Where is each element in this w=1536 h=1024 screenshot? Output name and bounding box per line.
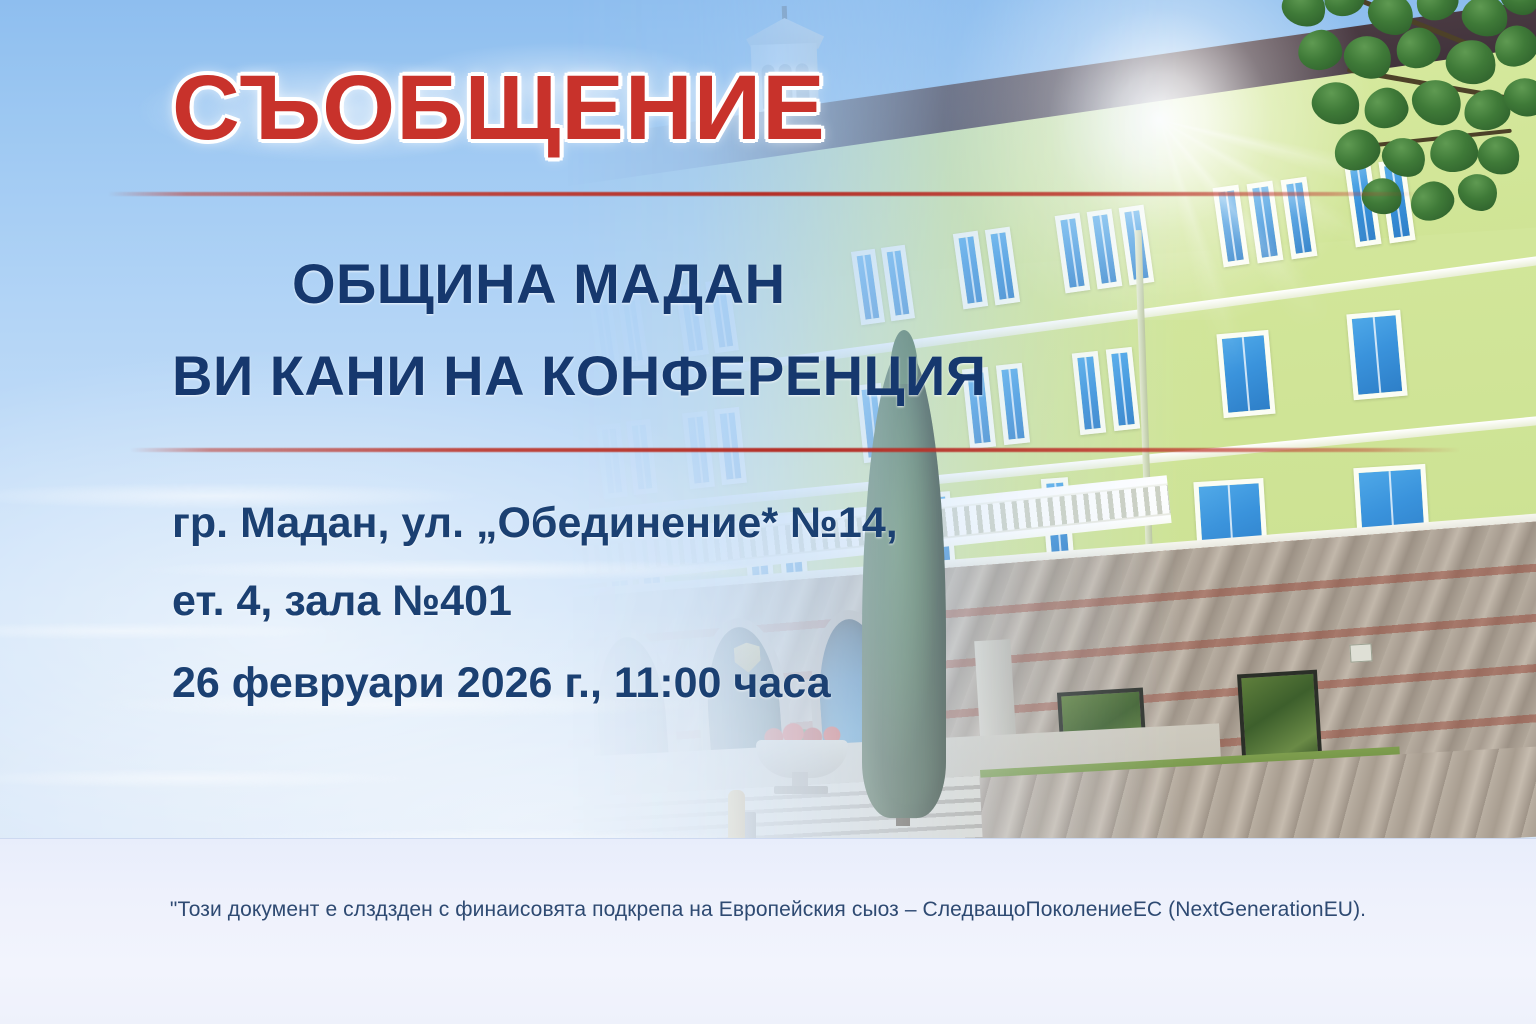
organization-name: ОБЩИНА МАДАН: [292, 256, 786, 312]
footer-band: [0, 838, 1536, 1024]
announcement-poster: СЪОБЩЕНИЕ ОБЩИНА МАДАН ВИ КАНИ НА КОНФЕР…: [0, 0, 1536, 1024]
event-datetime: 26 февруари 2026 г., 11:00 часа: [172, 662, 831, 705]
divider-top: [108, 192, 1420, 196]
venue-address-line-1: гр. Мадан, ул. „Обединение* №14,: [172, 502, 898, 545]
venue-address-line-2: ет. 4, зала №401: [172, 580, 512, 623]
divider-bottom: [130, 448, 1460, 452]
funding-disclaimer: "Този документ е слздзден с финаисовята …: [0, 898, 1536, 922]
page-title: СЪОБЩЕНИЕ: [172, 62, 826, 154]
invitation-line: ВИ КАНИ НА КОНФЕРЕНЦИЯ: [172, 348, 986, 404]
